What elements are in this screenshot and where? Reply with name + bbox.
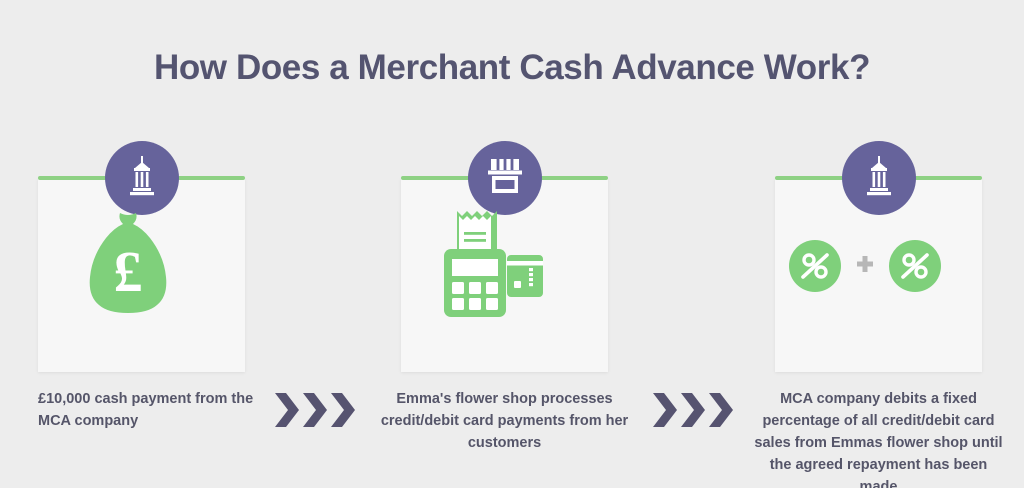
- percent-circle-left-icon: [789, 240, 841, 292]
- chevron-right-icon: [680, 391, 706, 434]
- plus-icon: [856, 255, 874, 278]
- step-1-art: £: [24, 200, 231, 332]
- step-3-art: [761, 200, 968, 332]
- chevron-right-icon: [302, 391, 328, 434]
- percentage-plus-percentage-icon: [789, 240, 941, 292]
- step-2-art: [387, 200, 594, 332]
- step-card-1: £ £10,000 cash payment from the MCA comp…: [24, 140, 259, 485]
- steps-row: £ £10,000 cash payment from the MCA comp…: [0, 140, 1024, 485]
- chevron-right-icon: [274, 391, 300, 434]
- arrow-step1-to-step2: [274, 393, 356, 431]
- chevron-right-icon: [652, 391, 678, 434]
- card-payment-terminal-icon: [431, 205, 551, 328]
- percent-circle-right-icon: [889, 240, 941, 292]
- storefront-icon: [484, 156, 526, 201]
- bank-icon: [122, 155, 162, 202]
- svg-text:£: £: [113, 239, 142, 304]
- step-1-caption: £10,000 cash payment from the MCA compan…: [38, 388, 263, 432]
- step-2-caption: Emma's flower shop processes credit/debi…: [379, 388, 630, 454]
- step-card-2: Emma's flower shop processes credit/debi…: [387, 140, 622, 485]
- page-title: How Does a Merchant Cash Advance Work?: [0, 48, 1024, 88]
- chevron-right-icon: [708, 391, 734, 434]
- step-card-3: MCA company debits a fixed percentage of…: [761, 140, 996, 485]
- chevron-right-icon: [330, 391, 356, 434]
- step-3-caption: MCA company debits a fixed percentage of…: [753, 388, 1004, 488]
- money-bag-pound-icon: £: [80, 209, 176, 324]
- arrow-step2-to-step3: [652, 393, 734, 431]
- bank-icon: [859, 155, 899, 202]
